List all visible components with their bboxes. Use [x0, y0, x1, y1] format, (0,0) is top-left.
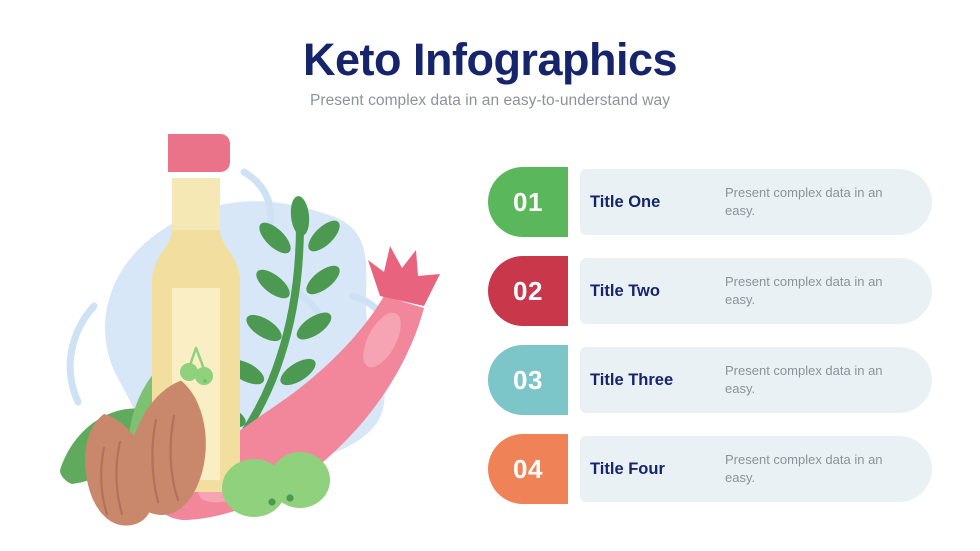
blob-swoosh-left: [70, 306, 94, 402]
bottle-cap: [168, 134, 230, 172]
bottle-neck: [172, 178, 220, 230]
step-description: Present complex data in an easy.: [725, 273, 900, 308]
step-text-group: Title Three Present complex data in an e…: [590, 362, 930, 397]
step-row[interactable]: 04 Title Four Present complex data in an…: [488, 434, 932, 504]
step-title: Title Four: [590, 460, 725, 479]
step-row[interactable]: 01 Title One Present complex data in an …: [488, 167, 932, 237]
step-title: Title One: [590, 193, 725, 212]
step-number-badge: 03: [488, 345, 568, 415]
step-number-badge: 04: [488, 434, 568, 504]
step-number-badge: 01: [488, 167, 568, 237]
step-row[interactable]: 02 Title Two Present complex data in an …: [488, 256, 932, 326]
step-description: Present complex data in an easy.: [725, 451, 900, 486]
step-number-badge: 02: [488, 256, 568, 326]
step-text-group: Title One Present complex data in an eas…: [590, 184, 930, 219]
step-text-group: Title Two Present complex data in an eas…: [590, 273, 930, 308]
step-text-group: Title Four Present complex data in an ea…: [590, 451, 930, 486]
page-header: Keto Infographics Present complex data i…: [0, 0, 980, 110]
step-title: Title Three: [590, 371, 725, 390]
step-row[interactable]: 03 Title Three Present complex data in a…: [488, 345, 932, 415]
keto-food-illustration: [32, 120, 472, 530]
step-description: Present complex data in an easy.: [725, 362, 900, 397]
step-title: Title Two: [590, 282, 725, 301]
step-description: Present complex data in an easy.: [725, 184, 900, 219]
steps-list: 01 Title One Present complex data in an …: [488, 167, 932, 504]
page-title: Keto Infographics: [0, 36, 980, 83]
page-subtitle: Present complex data in an easy-to-under…: [0, 92, 980, 110]
